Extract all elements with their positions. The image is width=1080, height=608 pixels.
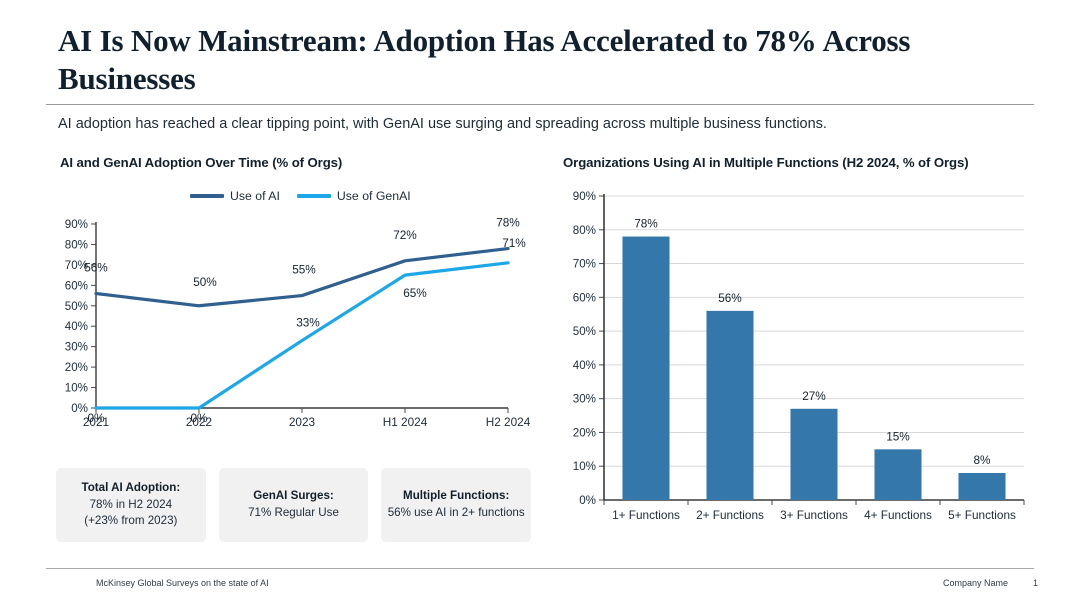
y-axis-tick-label: 80% <box>573 224 596 237</box>
footer-company-name: Company Name <box>943 578 1008 588</box>
kpi-title: Total AI Adoption: <box>81 480 180 496</box>
data-label-genai: 71% <box>502 236 526 250</box>
y-axis-tick-label: 60% <box>65 279 88 292</box>
bar <box>958 473 1005 500</box>
legend-swatch-use-of-ai <box>190 194 224 197</box>
data-label-ai: 55% <box>292 263 316 277</box>
bar-data-label: 15% <box>886 429 910 443</box>
right-chart-title: Organizations Using AI in Multiple Funct… <box>563 155 969 170</box>
y-axis-tick-label: 20% <box>65 361 88 374</box>
y-axis-tick-label: 80% <box>65 238 88 251</box>
x-axis-tick-label: 5+ Functions <box>948 508 1016 522</box>
legend-swatch-use-of-genai <box>297 194 331 197</box>
data-label-ai: 50% <box>193 275 217 289</box>
data-label-genai: 65% <box>403 286 427 300</box>
kpi-card-multiple-functions: Multiple Functions: 56% use AI in 2+ fun… <box>381 468 531 542</box>
legend-item-use-of-ai: Use of AI <box>190 189 280 203</box>
title-divider <box>46 104 1034 105</box>
y-axis-tick-label: 70% <box>573 258 596 271</box>
y-axis-tick-label: 40% <box>573 359 596 372</box>
kpi-callout-group: Total AI Adoption: 78% in H2 2024(+23% f… <box>56 468 531 542</box>
data-label-ai: 78% <box>496 216 520 230</box>
y-axis-tick-label: 10% <box>65 382 88 395</box>
kpi-value: 71% Regular Use <box>248 505 339 521</box>
bar-data-label: 27% <box>802 389 826 403</box>
x-axis-tick-label: H1 2024 <box>383 415 428 429</box>
kpi-card-genai-surges: GenAI Surges: 71% Regular Use <box>219 468 369 542</box>
y-axis-tick-label: 0% <box>71 402 88 415</box>
bar-chart: 0%10%20%30%40%50%60%70%80%90%78%1+ Funct… <box>560 186 1030 536</box>
series-line-use-of-genai <box>96 263 508 408</box>
x-axis-tick-label: 3+ Functions <box>780 508 848 522</box>
y-axis-tick-label: 20% <box>573 426 596 439</box>
kpi-card-total-ai-adoption: Total AI Adoption: 78% in H2 2024(+23% f… <box>56 468 206 542</box>
data-label-ai: 56% <box>84 261 108 275</box>
y-axis-tick-label: 90% <box>65 218 88 231</box>
x-axis-tick-label: 2+ Functions <box>696 508 764 522</box>
page-subtitle: AI adoption has reached a clear tipping … <box>58 115 1018 135</box>
page-title: AI Is Now Mainstream: Adoption Has Accel… <box>58 22 1018 98</box>
bar-data-label: 78% <box>634 217 658 231</box>
line-chart-legend: Use of AI Use of GenAI <box>190 189 411 203</box>
line-chart-svg: 0%10%20%30%40%50%60%70%80%90%20212022202… <box>56 210 516 440</box>
legend-item-use-of-genai: Use of GenAI <box>297 189 411 203</box>
bar <box>622 237 669 500</box>
line-chart: 0%10%20%30%40%50%60%70%80%90%20212022202… <box>56 210 516 440</box>
footer-divider <box>46 568 1034 569</box>
bar-data-label: 8% <box>973 453 991 467</box>
kpi-value: 78% in H2 2024(+23% from 2023) <box>84 497 177 530</box>
data-label-genai: 0% <box>87 411 105 425</box>
bar-chart-svg: 0%10%20%30%40%50%60%70%80%90%78%1+ Funct… <box>560 186 1030 536</box>
legend-label-use-of-genai: Use of GenAI <box>337 189 411 203</box>
series-line-use-of-ai <box>96 249 508 306</box>
x-axis-tick-label: H2 2024 <box>486 415 531 429</box>
y-axis-tick-label: 40% <box>65 320 88 333</box>
x-axis-tick-label: 1+ Functions <box>612 508 680 522</box>
kpi-title: GenAI Surges: <box>253 488 334 504</box>
x-axis-tick-label: 4+ Functions <box>864 508 932 522</box>
bar-data-label: 56% <box>718 291 742 305</box>
kpi-title: Multiple Functions: <box>403 488 509 504</box>
legend-label-use-of-ai: Use of AI <box>230 189 280 203</box>
y-axis-tick-label: 30% <box>65 341 88 354</box>
bar <box>874 449 921 500</box>
x-axis-tick-label: 2023 <box>289 415 316 429</box>
y-axis-tick-label: 10% <box>573 460 596 473</box>
y-axis-tick-label: 50% <box>65 300 88 313</box>
footer-page-number: 1 <box>1033 578 1038 588</box>
y-axis-tick-label: 60% <box>573 291 596 304</box>
bar <box>706 311 753 500</box>
data-label-ai: 72% <box>393 228 417 242</box>
y-axis-tick-label: 50% <box>573 325 596 338</box>
data-label-genai: 0% <box>190 411 208 425</box>
data-label-genai: 33% <box>296 316 320 330</box>
slide: AI Is Now Mainstream: Adoption Has Accel… <box>0 0 1080 608</box>
y-axis-tick-label: 0% <box>579 494 596 507</box>
bar <box>790 409 837 500</box>
y-axis-tick-label: 30% <box>573 393 596 406</box>
kpi-value: 56% use AI in 2+ functions <box>388 505 525 521</box>
left-chart-title: AI and GenAI Adoption Over Time (% of Or… <box>60 155 342 170</box>
footer-source: McKinsey Global Surveys on the state of … <box>96 578 269 588</box>
y-axis-tick-label: 90% <box>573 190 596 203</box>
